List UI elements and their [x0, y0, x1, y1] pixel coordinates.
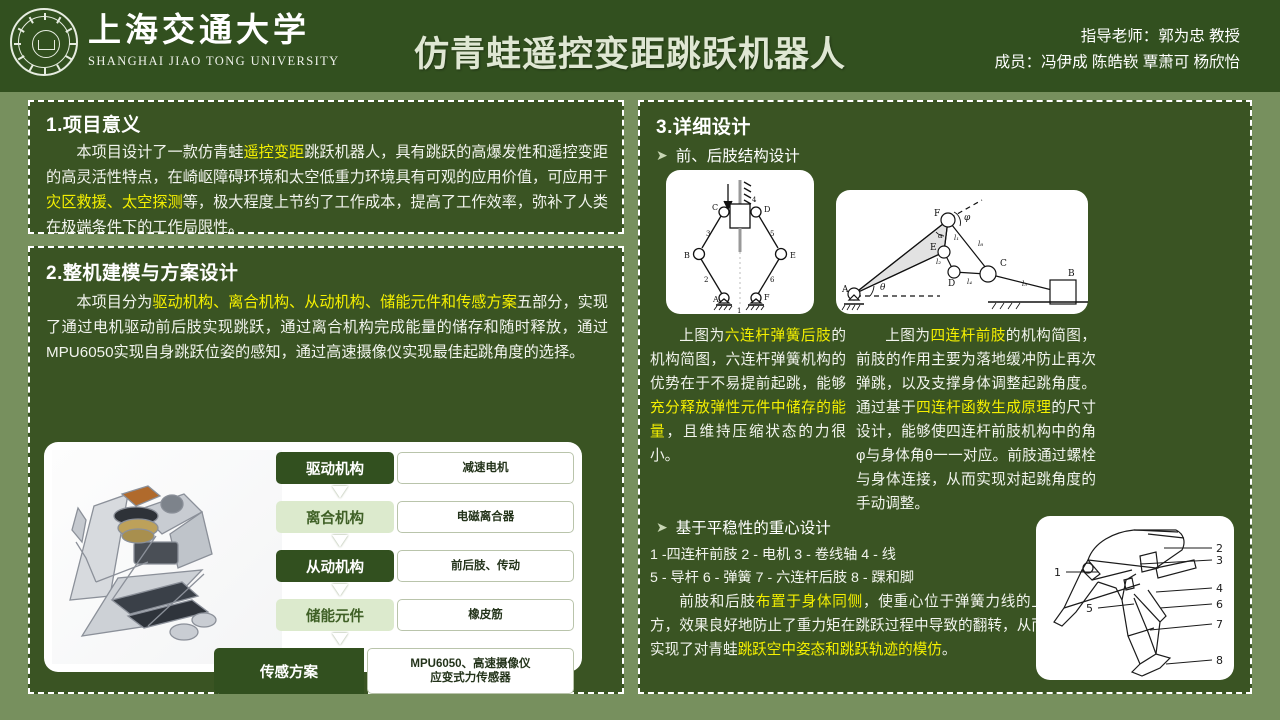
- poster-root: 上海交通大学 SHANGHAI JIAO TONG UNIVERSITY 仿青蛙…: [0, 0, 1280, 720]
- section-1-paragraph: 本项目设计了一款仿青蛙遥控变距跳跃机器人，具有跳跃的高爆发性和遥控变距的高灵活性…: [46, 140, 608, 240]
- four-bar-mechanism-icon: A B C D E F θ φ α l₁ l₂ l₄ l₅ l₈: [836, 190, 1088, 314]
- section-3-bullet-1: ➤ 前、后肢结构设计: [656, 144, 800, 166]
- four-bar-forelimb-diagram: A B C D E F θ φ α l₁ l₂ l₄ l₅ l₈: [836, 190, 1088, 314]
- svg-text:D: D: [948, 279, 955, 289]
- flow-arrow-icon: [276, 584, 574, 599]
- section-3-panel: 3.详细设计 ➤ 前、后肢结构设计: [638, 100, 1252, 694]
- svg-text:8: 8: [1216, 654, 1223, 667]
- section-2-panel: 2.整机建模与方案设计 本项目分为驱动机构、离合机构、从动机构、储能元件和传感方…: [28, 246, 624, 694]
- poster-header: 上海交通大学 SHANGHAI JIAO TONG UNIVERSITY 仿青蛙…: [0, 0, 1280, 92]
- flow-row: 传感方案MPU6050、高速摄像仪应变式力传感器: [214, 648, 574, 694]
- robot-line-drawing: 1 2 3 4 5 6 7 8: [1036, 516, 1234, 680]
- section-2-paragraph: 本项目分为驱动机构、离合机构、从动机构、储能元件和传感方案五部分，实现了通过电机…: [46, 290, 608, 365]
- svg-text:A: A: [712, 295, 719, 304]
- svg-text:6: 6: [1216, 598, 1223, 611]
- flow-stage-name: 从动机构: [276, 550, 394, 582]
- flow-stage-name: 离合机构: [276, 501, 394, 533]
- flow-stage-name: 储能元件: [276, 599, 394, 631]
- svg-text:3: 3: [706, 230, 710, 238]
- flow-row: 离合机构电磁离合器: [276, 501, 574, 533]
- sjtu-seal-icon: [10, 8, 78, 76]
- svg-text:l₅: l₅: [1022, 280, 1027, 288]
- svg-text:2: 2: [704, 276, 708, 284]
- advisor-line: 指导老师：郭为忠 教授: [995, 24, 1240, 50]
- page-title: 仿青蛙遥控变距跳跃机器人: [330, 26, 930, 77]
- flow-row: 驱动机构减速电机: [276, 452, 574, 484]
- six-bar-spring-hindlimb-diagram: CD BE AF 4 3 5 2 6 1: [666, 170, 814, 314]
- svg-text:1: 1: [737, 307, 741, 314]
- hindlimb-caption: 上图为六连杆弹簧后肢的机构简图，六连杆弹簧机构的优势在于不易提前起跳，能够充分释…: [650, 324, 846, 468]
- flow-row: 储能元件橡皮筋: [276, 599, 574, 631]
- robot-cad-drawing-icon: [52, 450, 282, 664]
- svg-text:B: B: [1068, 269, 1075, 279]
- section-3-bullet-1-label: 前、后肢结构设计: [676, 144, 800, 166]
- legend-line-1: 1 -四连杆前肢 2 - 电机 3 - 卷线轴 4 - 线: [650, 544, 1046, 567]
- university-name-en: SHANGHAI JIAO TONG UNIVERSITY: [88, 54, 340, 69]
- svg-text:5: 5: [1086, 602, 1093, 615]
- flow-arrow-icon: [276, 535, 574, 550]
- section-2-title: 2.整机建模与方案设计: [46, 258, 238, 285]
- legend-line-2: 5 - 导杆 6 - 弹簧 7 - 六连杆后肢 8 - 踝和脚: [650, 567, 1046, 590]
- flow-stage-detail: MPU6050、高速摄像仪应变式力传感器: [367, 648, 574, 694]
- svg-text:l₈: l₈: [978, 240, 983, 248]
- architecture-flow-list: 驱动机构减速电机离合机构电磁离合器从动机构前后肢、传动储能元件橡皮筋传感方案MP…: [276, 452, 574, 696]
- svg-text:A: A: [841, 285, 849, 295]
- svg-text:l₁: l₁: [954, 234, 959, 242]
- arrow-bullet-icon: ➤: [656, 147, 668, 164]
- svg-text:E: E: [790, 251, 796, 260]
- svg-text:F: F: [934, 209, 940, 219]
- svg-text:θ: θ: [880, 283, 886, 293]
- svg-text:B: B: [684, 251, 690, 260]
- svg-text:7: 7: [1216, 618, 1223, 631]
- section-3-bullet-2-label: 基于平稳性的重心设计: [676, 516, 831, 538]
- svg-text:C: C: [712, 203, 718, 212]
- arrow-bullet-icon: ➤: [656, 519, 668, 536]
- svg-text:α: α: [938, 232, 943, 240]
- svg-text:3: 3: [1216, 554, 1223, 567]
- svg-text:F: F: [764, 293, 770, 302]
- svg-text:E: E: [930, 243, 937, 253]
- flow-stage-detail: 橡皮筋: [397, 599, 574, 631]
- svg-text:4: 4: [1216, 582, 1223, 595]
- svg-text:6: 6: [770, 276, 775, 284]
- svg-text:l₄: l₄: [967, 278, 972, 286]
- robot-parts-legend: 1 -四连杆前肢 2 - 电机 3 - 卷线轴 4 - 线 5 - 导杆 6 -…: [650, 544, 1046, 590]
- flow-arrow-icon: [276, 633, 574, 648]
- flow-stage-detail: 减速电机: [397, 452, 574, 484]
- section-1-panel: 1.项目意义 本项目设计了一款仿青蛙遥控变距跳跃机器人，具有跳跃的高爆发性和遥控…: [28, 100, 624, 234]
- robot-cad-photo: [52, 450, 282, 664]
- members-line: 成员：冯伊成 陈皓嵚 覃萧可 杨欣怡: [995, 50, 1240, 76]
- svg-text:φ: φ: [964, 213, 971, 223]
- svg-text:D: D: [764, 205, 770, 214]
- section-3-bullet-2: ➤ 基于平稳性的重心设计: [656, 516, 831, 538]
- flow-stage-detail: 电磁离合器: [397, 501, 574, 533]
- university-name-cn: 上海交通大学: [88, 15, 340, 48]
- flow-arrow-icon: [276, 486, 574, 501]
- center-of-mass-paragraph: 前肢和后肢布置于身体同侧，使重心位于弹簧力线的上方，效果良好地防止了重力矩在跳跃…: [650, 590, 1046, 662]
- svg-text:l₂: l₂: [936, 258, 941, 266]
- section-1-title: 1.项目意义: [46, 110, 141, 137]
- svg-text:5: 5: [770, 230, 774, 238]
- section-3-title: 3.详细设计: [656, 112, 751, 139]
- flow-row: 从动机构前后肢、传动: [276, 550, 574, 582]
- university-logo: 上海交通大学 SHANGHAI JIAO TONG UNIVERSITY: [10, 8, 340, 76]
- flow-stage-name: 传感方案: [214, 648, 364, 694]
- robot-line-drawing-icon: 1 2 3 4 5 6 7 8: [1036, 516, 1234, 680]
- six-bar-mechanism-icon: CD BE AF 4 3 5 2 6 1: [666, 170, 814, 314]
- flow-stage-detail: 前后肢、传动: [397, 550, 574, 582]
- flow-stage-name: 驱动机构: [276, 452, 394, 484]
- system-architecture-figure: 驱动机构减速电机离合机构电磁离合器从动机构前后肢、传动储能元件橡皮筋传感方案MP…: [44, 442, 582, 672]
- svg-text:C: C: [1000, 259, 1007, 269]
- svg-text:1: 1: [1054, 566, 1061, 579]
- svg-text:4: 4: [752, 196, 757, 204]
- forelimb-caption: 上图为四连杆前肢的机构简图，前肢的作用主要为落地缓冲防止再次弹跳，以及支撑身体调…: [856, 324, 1096, 516]
- credits-block: 指导老师：郭为忠 教授 成员：冯伊成 陈皓嵚 覃萧可 杨欣怡: [995, 24, 1240, 76]
